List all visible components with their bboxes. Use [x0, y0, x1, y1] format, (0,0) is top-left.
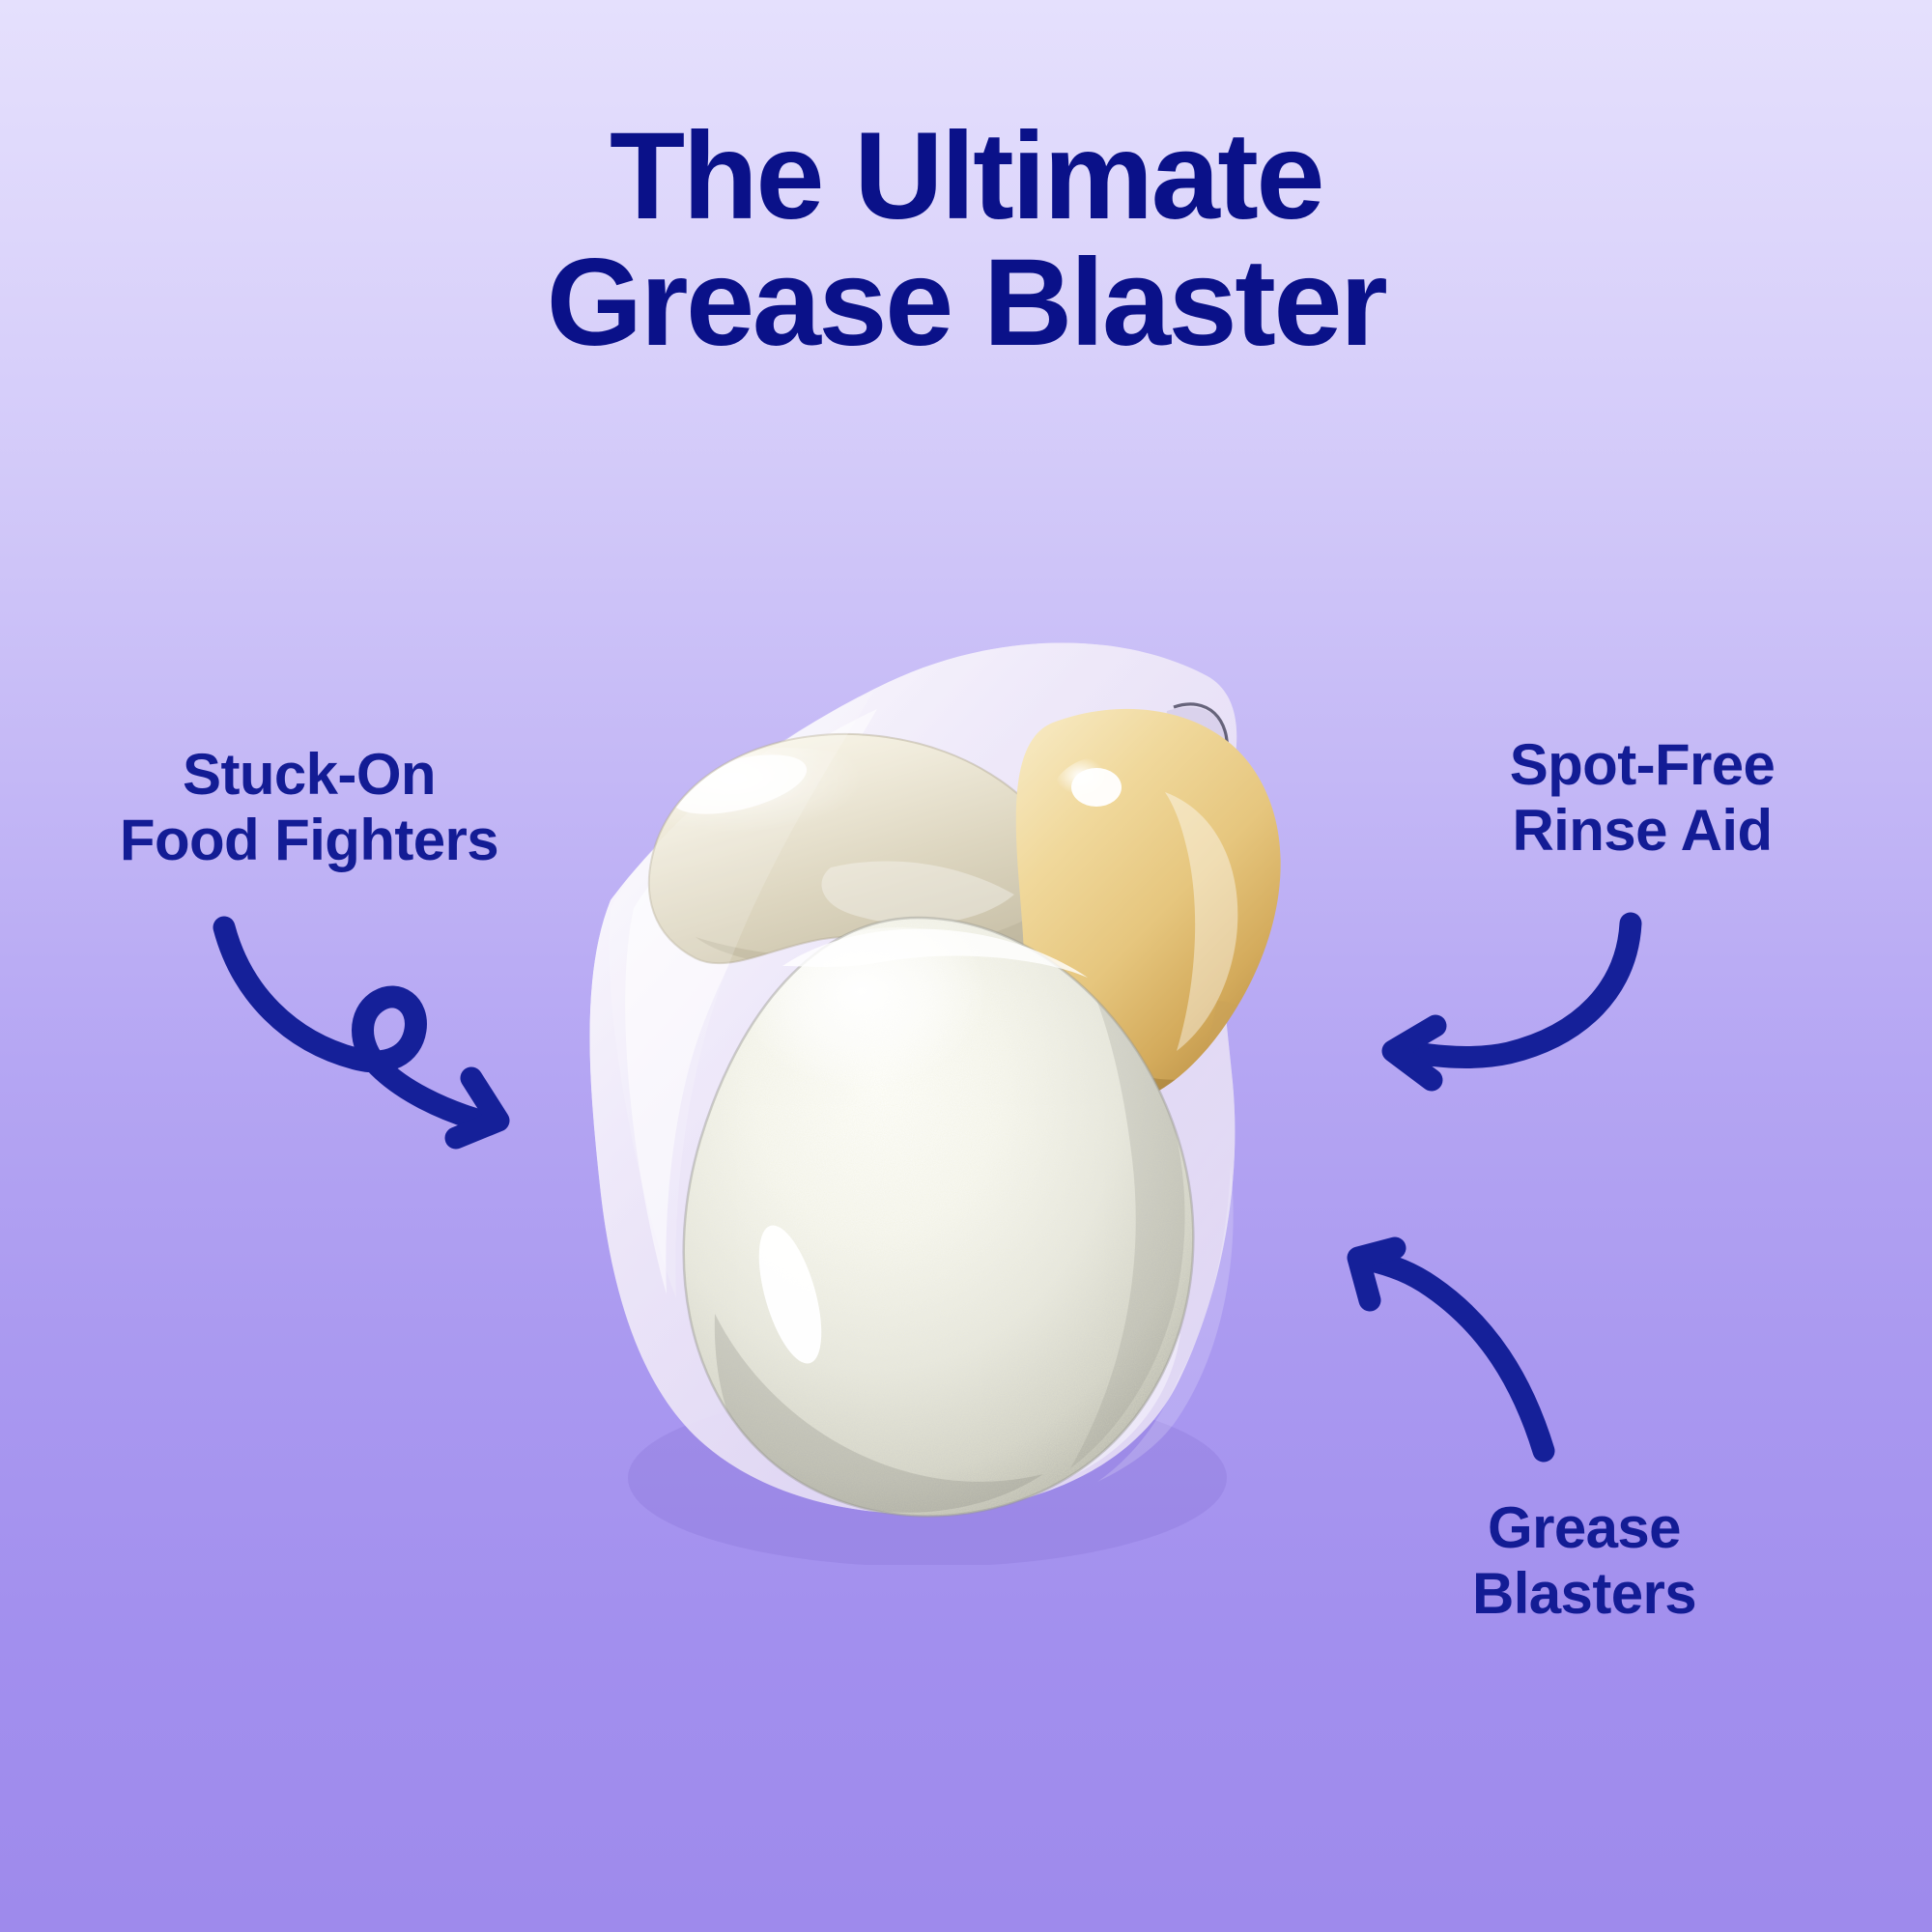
- curved-arrow-icon-bottom: [1323, 1227, 1652, 1497]
- product-image: [541, 618, 1294, 1565]
- page-title: The Ultimate Grease Blaster: [0, 114, 1932, 366]
- promo-image-canvas: The Ultimate Grease Blaster: [0, 0, 1932, 1932]
- callout-stuck-on-food-fighters: Stuck-On Food Fighters: [58, 742, 560, 874]
- curved-arrow-icon-left: [184, 889, 551, 1150]
- callout-spot-free-rinse-aid: Spot-Free Rinse Aid: [1420, 732, 1864, 865]
- callout-grease-blasters: Grease Blasters: [1381, 1495, 1787, 1628]
- curved-arrow-icon-right: [1362, 869, 1700, 1121]
